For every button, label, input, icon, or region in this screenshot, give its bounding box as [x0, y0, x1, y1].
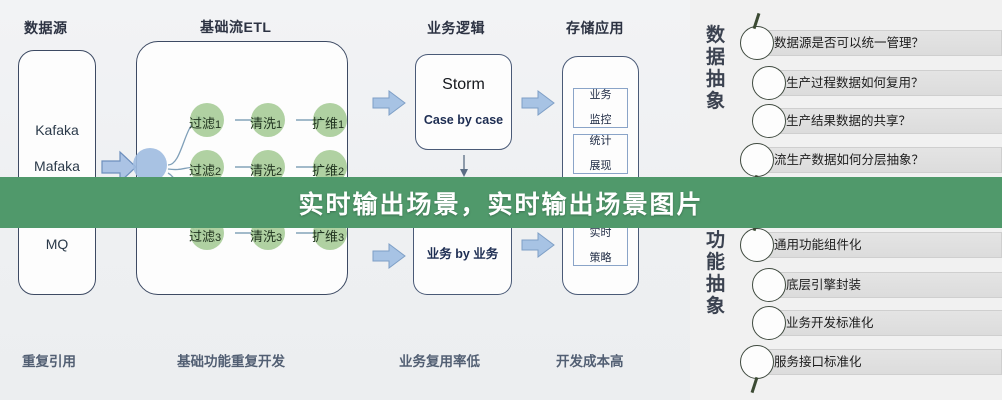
right-group-title-data-abstraction: 数据抽象: [700, 25, 732, 113]
etl-label-index: 1: [215, 119, 221, 131]
pin-circle-icon: [740, 26, 774, 60]
etl-label-text: 扩维: [312, 163, 338, 178]
column-title-source: 数据源: [24, 18, 68, 38]
storm-title: Storm: [415, 76, 512, 94]
etl-node-label: 扩维3: [312, 226, 344, 245]
storage-chip[interactable]: 业务监控: [573, 88, 628, 128]
etl-label-text: 清洗: [250, 116, 276, 131]
watermark-banner-text: 实时输出场景，实时输出场景图片: [0, 177, 1002, 228]
flink-subtitle: 业务 by 业务: [413, 243, 512, 262]
etl-node-label: 扩维1: [312, 113, 344, 132]
etl-node-label: 清洗3: [250, 226, 282, 245]
question-text: 生产过程数据如何复用？: [786, 70, 924, 96]
pin-circle-icon: [752, 268, 786, 302]
etl-label-text: 过滤: [189, 163, 215, 178]
etl-node-label: 过滤3: [189, 226, 221, 245]
pin-circle-icon: [740, 228, 774, 262]
etl-label-index: 3: [338, 232, 344, 244]
pin-circle-icon: [752, 306, 786, 340]
caption-storage: 开发成本高: [556, 350, 624, 370]
etl-node-label: 过滤1: [189, 113, 221, 132]
etl-node-label: 清洗1: [250, 113, 282, 132]
storage-chip[interactable]: 实时策略: [573, 226, 628, 266]
function-text: 底层引擎封装: [786, 272, 861, 298]
caption-etl: 基础功能重复开发: [177, 350, 285, 370]
function-text: 业务开发标准化: [786, 310, 874, 336]
storm-container: [415, 54, 512, 150]
arrow-etl-to-flink: [372, 243, 404, 269]
arrow-flink-to-storage: [521, 232, 553, 258]
pin-circle-icon: [752, 104, 786, 138]
migration-arrow-icon: [460, 155, 468, 177]
caption-source: 重复引用: [22, 350, 76, 370]
question-text: 流生产数据如何分层抽象？: [774, 147, 924, 173]
arrow-storm-to-storage: [521, 90, 553, 116]
etl-label-text: 过滤: [189, 229, 215, 244]
etl-label-index: 3: [276, 232, 282, 244]
etl-label-index: 1: [276, 119, 282, 131]
function-text: 服务接口标准化: [774, 349, 862, 375]
caption-business: 业务复用率低: [399, 350, 480, 370]
storage-chip-line2: 监控: [590, 114, 612, 127]
column-title-storage: 存储应用: [566, 18, 624, 38]
function-text: 通用功能组件化: [774, 232, 862, 258]
storage-chip-line2: 策略: [590, 252, 612, 265]
column-title-etl: 基础流ETL: [200, 17, 271, 37]
etl-label-text: 清洗: [250, 229, 276, 244]
pin-circle-icon: [740, 345, 774, 379]
diagram-canvas: 数据源 基础流ETL 业务逻辑 存储应用 Kafaka Mafaka Datab…: [0, 0, 1002, 400]
storage-chip-line1: 业务: [590, 89, 612, 102]
column-title-business: 业务逻辑: [427, 18, 485, 38]
question-text: 数据源是否可以统一管理？: [774, 30, 924, 56]
etl-label-text: 扩维: [312, 229, 338, 244]
pin-circle-icon: [740, 143, 774, 177]
storage-chip-line2: 展现: [590, 160, 612, 173]
etl-label-text: 过滤: [189, 116, 215, 131]
etl-label-index: 3: [215, 232, 221, 244]
storage-chip-line1: 实时: [590, 227, 612, 240]
question-text: 生产结果数据的共享？: [786, 108, 911, 134]
etl-label-index: 1: [338, 119, 344, 131]
pin-circle-icon: [752, 66, 786, 100]
etl-label-text: 清洗: [250, 163, 276, 178]
arrow-etl-to-business: [372, 90, 404, 116]
storage-chip-line1: 统计: [590, 135, 612, 148]
etl-label-text: 扩维: [312, 116, 338, 131]
right-group-title-function-abstraction: 功能抽象: [700, 230, 732, 318]
storage-chip[interactable]: 统计展现: [573, 134, 628, 174]
storm-subtitle: Case by case: [415, 113, 512, 127]
